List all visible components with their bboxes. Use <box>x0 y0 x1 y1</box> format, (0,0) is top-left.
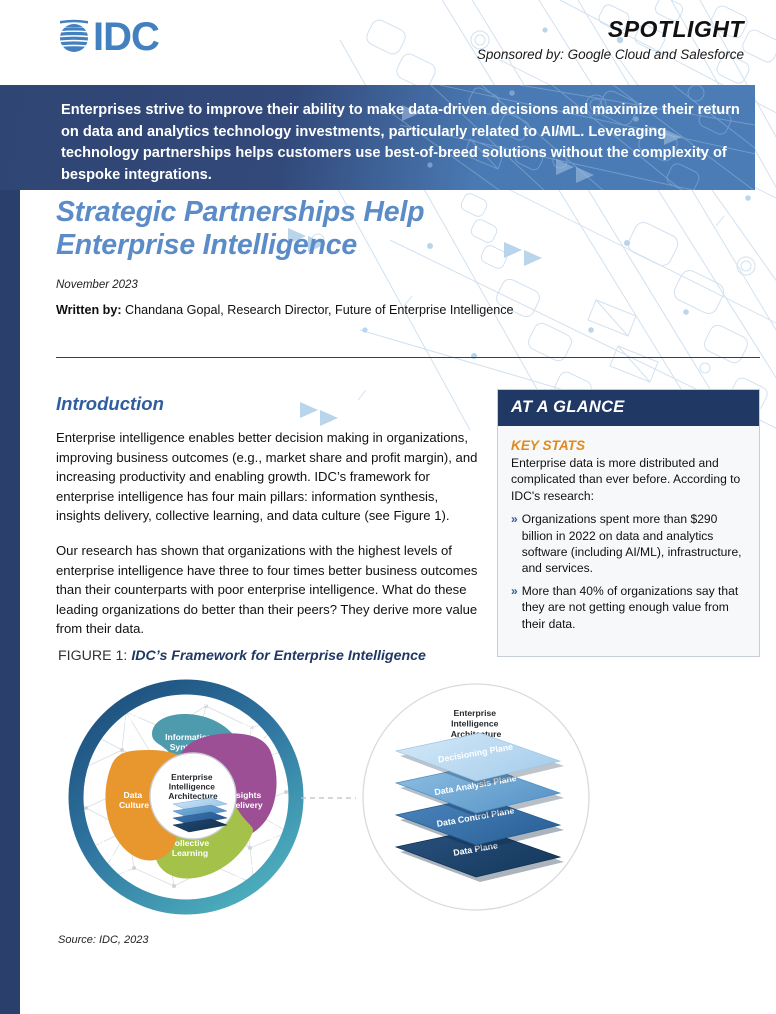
banner-text: Enterprises strive to improve their abil… <box>61 100 741 186</box>
figure-source: Source: IDC, 2023 <box>58 934 149 946</box>
page-title-line2: Enterprise Intelligence <box>56 229 514 262</box>
main-content-column: Introduction Enterprise intelligence ena… <box>56 393 480 654</box>
key-stats-label: KEY STATS <box>511 438 746 453</box>
at-a-glance-header: AT A GLANCE <box>498 390 759 426</box>
at-a-glance-body: KEY STATS Enterprise data is more distri… <box>498 426 759 656</box>
idc-logo-text: IDC <box>93 17 159 57</box>
header-divider <box>56 357 760 358</box>
figure-caption: FIGURE 1: IDC’s Framework for Enterprise… <box>58 648 426 664</box>
figure-1-graphic: Share | Margin | Churn | Growth | Compli… <box>56 672 760 922</box>
title-block: Strategic Partnerships Help Enterprise I… <box>56 196 514 317</box>
at-a-glance-panel: AT A GLANCE KEY STATS Enterprise data is… <box>497 389 760 657</box>
figure-caption-title: IDC’s Framework for Enterprise Intellige… <box>131 648 426 664</box>
architecture-diagram: Enterprise Intelligence Architecture Dat… <box>363 684 589 910</box>
publication-date: November 2023 <box>56 279 514 291</box>
page-title-line1: Strategic Partnerships Help <box>56 196 514 229</box>
document-header: IDC SPOTLIGHT Sponsored by: Google Cloud… <box>0 0 776 85</box>
spotlight-title: SPOTLIGHT <box>477 16 744 43</box>
author-line: Written by: Chandana Gopal, Research Dir… <box>56 303 514 317</box>
sponsor-line: Sponsored by: Google Cloud and Salesforc… <box>477 47 744 62</box>
bullet-marker-icon: » <box>511 511 518 577</box>
figure-caption-prefix: FIGURE 1: <box>58 648 131 664</box>
spotlight-block: SPOTLIGHT Sponsored by: Google Cloud and… <box>477 16 744 62</box>
document-page: IDC SPOTLIGHT Sponsored by: Google Cloud… <box>0 0 776 1014</box>
idc-logo: IDC <box>57 17 159 57</box>
author-name: Chandana Gopal, Research Director, Futur… <box>125 303 514 317</box>
at-a-glance-title: AT A GLANCE <box>511 398 746 417</box>
idc-globe-icon <box>57 17 91 57</box>
summary-banner: Enterprises strive to improve their abil… <box>0 85 755 190</box>
list-item: » Organizations spent more than $290 bil… <box>511 511 746 577</box>
paragraph-2: Our research has shown that organization… <box>56 541 480 639</box>
paragraph-1: Enterprise intelligence enables better d… <box>56 428 480 526</box>
written-by-label: Written by: <box>56 303 122 317</box>
list-item: » More than 40% of organizations say tha… <box>511 583 746 632</box>
key-stats-intro: Enterprise data is more distributed and … <box>511 455 746 504</box>
core-label: Enterprise Intelligence Architecture <box>168 772 218 801</box>
page-title: Strategic Partnerships Help Enterprise I… <box>56 196 514 262</box>
list-item-text: More than 40% of organizations say that … <box>522 583 746 632</box>
section-heading-introduction: Introduction <box>56 393 480 415</box>
list-item-text: Organizations spent more than $290 billi… <box>522 511 746 577</box>
bullet-marker-icon: » <box>511 583 518 632</box>
left-accent-bar <box>0 190 20 1014</box>
